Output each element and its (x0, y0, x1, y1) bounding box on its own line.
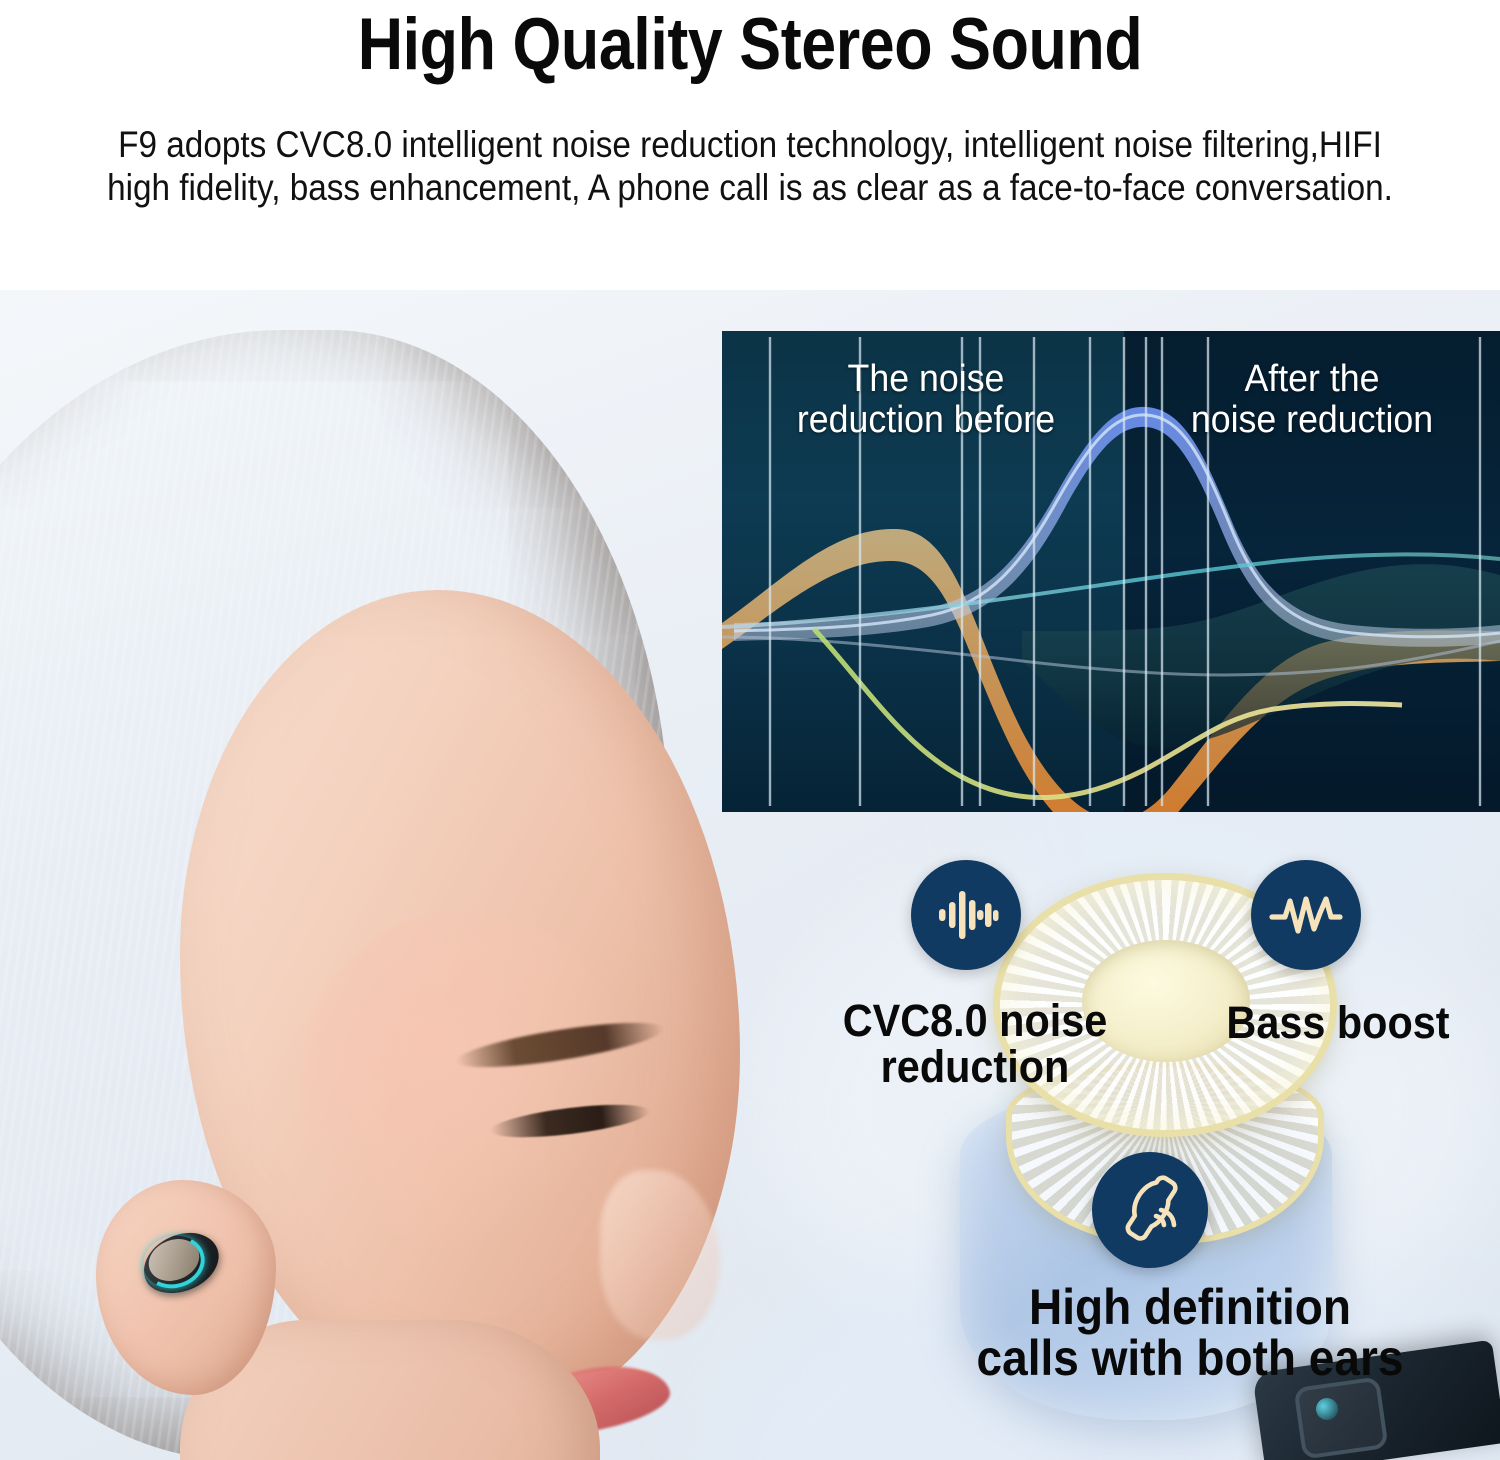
feature-label-call-line2: calls with both ears (905, 1333, 1475, 1384)
smartphone-camera-module (1293, 1376, 1388, 1459)
header-section: High Quality Stereo Sound F9 adopts CVC8… (0, 0, 1500, 292)
feature-badge-hd-calls (1092, 1152, 1208, 1268)
waveform-label-before-line1: The noise (738, 359, 1114, 400)
feature-label-call-line1: High definition (905, 1282, 1475, 1333)
model-cheek (300, 910, 630, 1250)
page-title: High Quality Stereo Sound (105, 6, 1395, 85)
waveform-label-before-line2: reduction before (738, 400, 1114, 441)
waveform-label-after-line1: After the (1137, 359, 1487, 400)
feature-label-noise-line2: reduction (805, 1044, 1145, 1090)
feature-label-noise-line1: CVC8.0 noise (805, 998, 1145, 1044)
waveform-label-after-line2: noise reduction (1137, 400, 1487, 441)
pulse-wave-icon (1268, 885, 1344, 945)
page-subtitle: F9 adopts CVC8.0 intelligent noise reduc… (98, 124, 1401, 210)
waveform-label-after: After the noise reduction (1137, 359, 1487, 441)
feature-label-bass-boost: Bass boost (1191, 1000, 1485, 1046)
audio-bars-icon (931, 880, 1001, 950)
feature-badge-noise-reduction (911, 860, 1021, 970)
noise-reduction-waveform-panel: The noise reduction before After the noi… (722, 331, 1500, 812)
feature-label-hd-calls: High definition calls with both ears (905, 1282, 1475, 1384)
waveform-label-before: The noise reduction before (738, 359, 1114, 441)
feature-badge-bass-boost (1251, 860, 1361, 970)
phone-handset-icon (1112, 1172, 1188, 1248)
feature-label-noise-reduction: CVC8.0 noise reduction (805, 998, 1145, 1090)
